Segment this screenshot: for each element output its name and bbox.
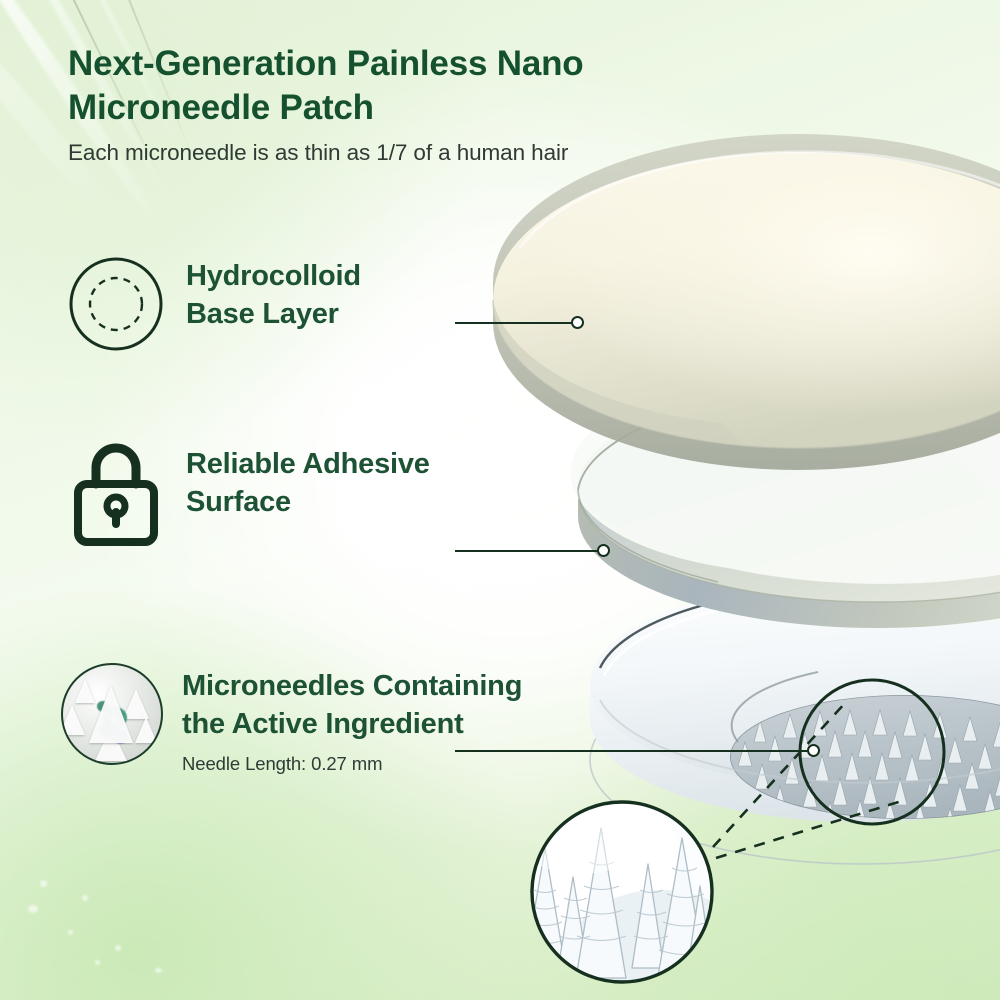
leader-endpoint-dot bbox=[597, 544, 610, 557]
feature-label: Reliable Adhesive Surface bbox=[186, 446, 430, 521]
hydrocolloid-base-layer bbox=[493, 134, 1000, 470]
padlock-icon bbox=[64, 440, 168, 544]
header: Next-Generation Painless Nano Microneedl… bbox=[68, 42, 728, 166]
dashed-circle-icon bbox=[64, 252, 168, 356]
feature-reliable-adhesive-surface: Reliable Adhesive Surface bbox=[64, 440, 430, 544]
feature-label: Hydrocolloid Base Layer bbox=[186, 258, 361, 333]
leader-line-stroke bbox=[455, 750, 811, 752]
microneedle-closeup bbox=[508, 788, 750, 1000]
leader-line-stroke bbox=[455, 322, 575, 324]
feature-text: Hydrocolloid Base Layer bbox=[186, 252, 361, 333]
feature-text: Reliable Adhesive Surface bbox=[186, 440, 430, 521]
feature-text: Microneedles Containing the Active Ingre… bbox=[182, 662, 522, 775]
feature-hydrocolloid-base-layer: Hydrocolloid Base Layer bbox=[64, 252, 361, 356]
needle-cone-icon bbox=[89, 685, 133, 743]
leader-endpoint-dot bbox=[571, 316, 584, 329]
needle-cone-icon bbox=[135, 717, 157, 743]
needle-length-caption: Needle Length: 0.27 mm bbox=[182, 753, 522, 775]
infographic-page: Next-Generation Painless Nano Microneedl… bbox=[0, 0, 1000, 1000]
feature-label: Microneedles Containing the Active Ingre… bbox=[182, 668, 522, 743]
needle-cone-icon bbox=[61, 705, 85, 735]
page-subtitle: Each microneedle is as thin as 1/7 of a … bbox=[68, 140, 728, 166]
microneedle-photo-icon bbox=[60, 662, 164, 766]
page-title: Next-Generation Painless Nano Microneedl… bbox=[68, 42, 728, 131]
leader-line-stroke bbox=[455, 550, 601, 552]
feature-microneedles-active-ingredient: Microneedles Containing the Active Ingre… bbox=[60, 662, 522, 775]
leader-endpoint-dot bbox=[807, 744, 820, 757]
